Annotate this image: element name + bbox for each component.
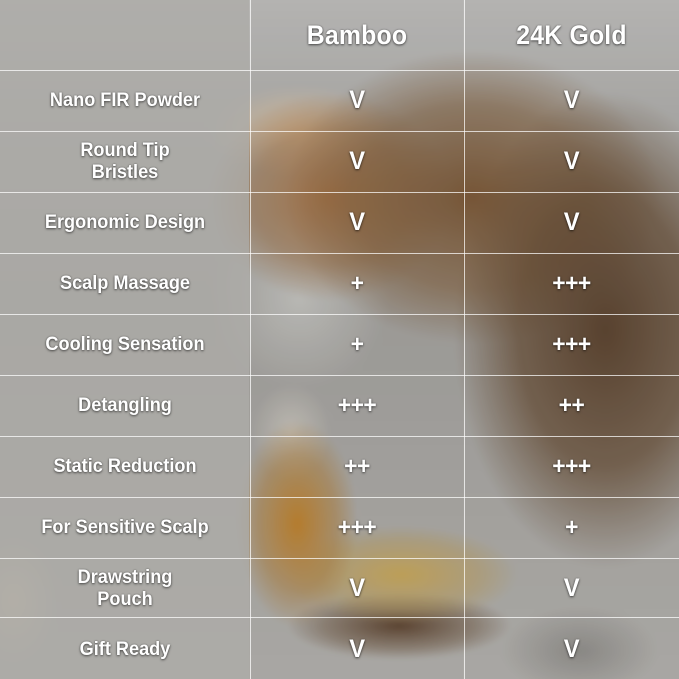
- table-row: Detangling +++ ++: [0, 375, 679, 436]
- feature-label-line1: Scalp Massage: [60, 272, 190, 294]
- feature-label: Cooling Sensation: [9, 314, 242, 375]
- feature-label: Scalp Massage: [9, 253, 242, 314]
- table-row: Ergonomic Design V V: [0, 192, 679, 253]
- gold-value: V: [469, 70, 673, 131]
- feature-label-line2: Bristles: [14, 162, 235, 184]
- gold-value: ++: [469, 375, 673, 436]
- feature-label: DrawstringPouch: [9, 558, 242, 619]
- gold-value: +++: [469, 314, 673, 375]
- gold-value: +++: [469, 436, 673, 497]
- feature-label-line2: Pouch: [14, 589, 235, 611]
- bamboo-value: +: [255, 253, 458, 314]
- table-row: Nano FIR Powder V V: [0, 70, 679, 131]
- feature-label: Detangling: [9, 375, 242, 436]
- gold-value: V: [469, 558, 673, 619]
- gold-value: V: [469, 131, 673, 192]
- bamboo-value: V: [255, 70, 458, 131]
- table-row: Cooling Sensation + +++: [0, 314, 679, 375]
- bamboo-value: V: [255, 131, 458, 192]
- bamboo-value: V: [255, 192, 458, 253]
- bamboo-value: +++: [255, 375, 458, 436]
- table-row: Gift Ready V V: [0, 619, 679, 679]
- gold-value: +: [469, 497, 673, 558]
- feature-label-line1: Ergonomic Design: [45, 211, 205, 233]
- feature-label-line1: For Sensitive Scalp: [41, 516, 208, 538]
- bamboo-value: +++: [255, 497, 458, 558]
- table-row: Round TipBristles V V: [0, 131, 679, 192]
- feature-label-line1: Detangling: [78, 394, 172, 416]
- header-bamboo: Bamboo: [259, 0, 456, 70]
- feature-label-line1: Cooling Sensation: [45, 333, 204, 355]
- product-comparison-chart: Bamboo 24K Gold Nano FIR Powder V V Roun…: [0, 0, 679, 679]
- feature-label-line1: Static Reduction: [53, 455, 196, 477]
- gold-value: +++: [469, 253, 673, 314]
- feature-label: For Sensitive Scalp: [9, 497, 242, 558]
- table-header-row: Bamboo 24K Gold: [0, 0, 679, 70]
- feature-label-line1: Gift Ready: [80, 638, 171, 660]
- feature-label-line1: Nano FIR Powder: [50, 89, 200, 111]
- table-row: Static Reduction ++ +++: [0, 436, 679, 497]
- feature-label: Gift Ready: [9, 619, 242, 679]
- gold-value: V: [469, 192, 673, 253]
- feature-label: Nano FIR Powder: [9, 70, 242, 131]
- gold-value: V: [469, 619, 673, 679]
- feature-label: Static Reduction: [9, 436, 242, 497]
- comparison-table: Bamboo 24K Gold Nano FIR Powder V V Roun…: [0, 0, 679, 679]
- table-row: Scalp Massage + +++: [0, 253, 679, 314]
- feature-label-line1: Drawstring: [78, 566, 173, 588]
- table-row: DrawstringPouch V V: [0, 558, 679, 619]
- bamboo-value: V: [255, 558, 458, 619]
- bamboo-value: ++: [255, 436, 458, 497]
- feature-label: Round TipBristles: [9, 131, 242, 192]
- header-blank-cell: [10, 0, 240, 70]
- header-24k-gold: 24K Gold: [473, 0, 671, 70]
- table-row: For Sensitive Scalp +++ +: [0, 497, 679, 558]
- bamboo-value: +: [255, 314, 458, 375]
- feature-label: Ergonomic Design: [9, 192, 242, 253]
- feature-label-line1: Round Tip: [80, 139, 169, 161]
- bamboo-value: V: [255, 619, 458, 679]
